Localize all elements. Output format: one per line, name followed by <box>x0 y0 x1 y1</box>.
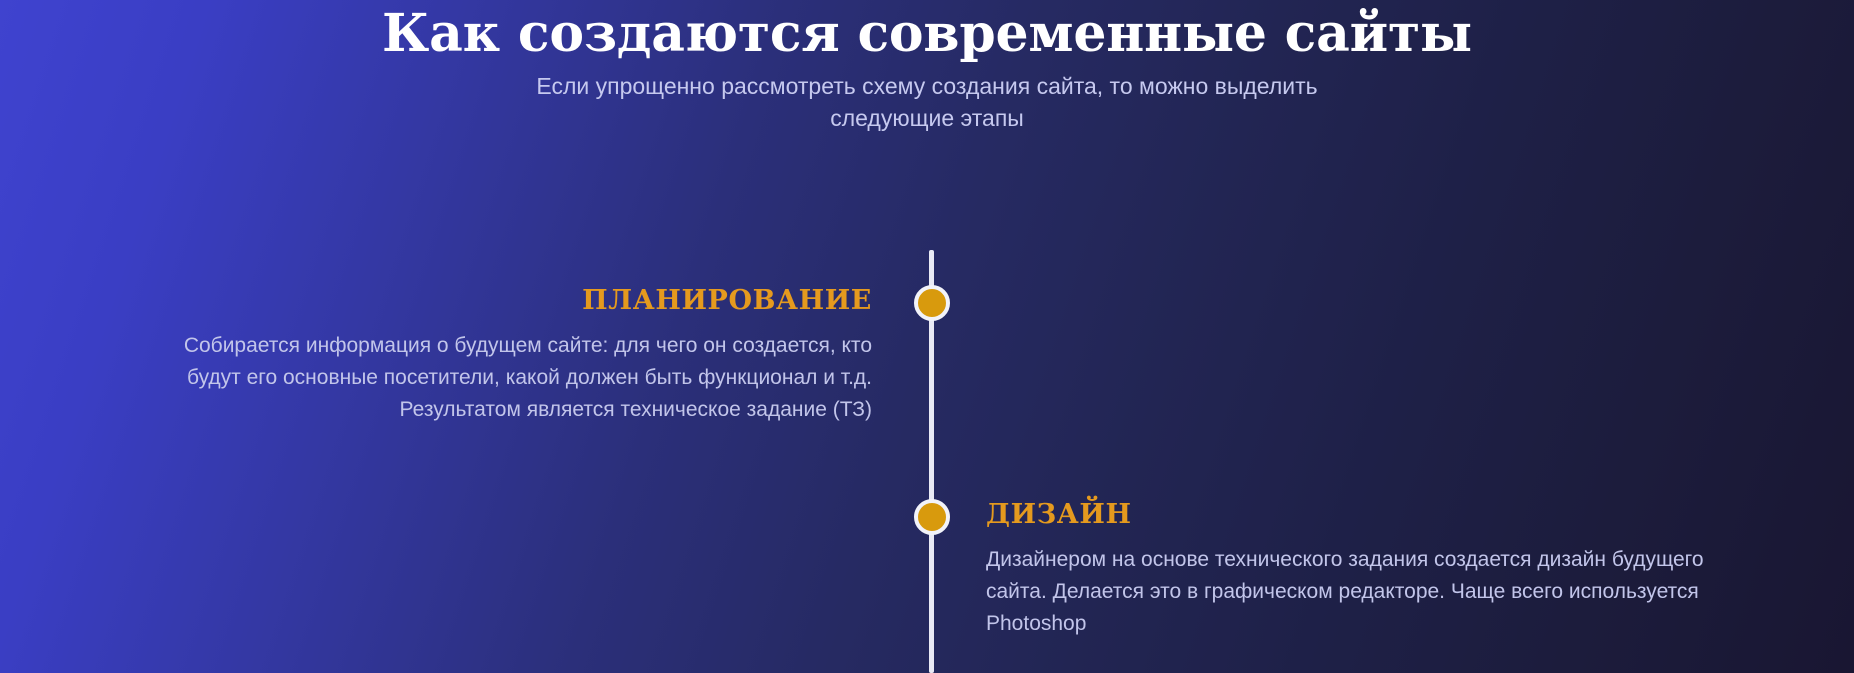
timeline-node-planning[interactable] <box>914 285 950 321</box>
timeline-rail <box>929 250 934 673</box>
stage-body-planning: Собирается информация о будущем сайте: д… <box>132 330 872 426</box>
stage-body-design: Дизайнером на основе технического задани… <box>986 544 1746 640</box>
stage-heading-design: ДИЗАЙН <box>986 500 1746 530</box>
timeline-stage-planning: ПЛАНИРОВАНИЕ Собирается информация о буд… <box>132 286 872 425</box>
stage-heading-planning: ПЛАНИРОВАНИЕ <box>132 286 872 316</box>
page-header: Как создаются современные сайты Если упр… <box>0 0 1854 135</box>
timeline-stage-design: ДИЗАЙН Дизайнером на основе технического… <box>986 500 1746 639</box>
page-title: Как создаются современные сайты <box>0 6 1854 62</box>
timeline-node-design[interactable] <box>914 499 950 535</box>
page-subtitle: Если упрощенно рассмотреть схему создани… <box>477 71 1377 134</box>
